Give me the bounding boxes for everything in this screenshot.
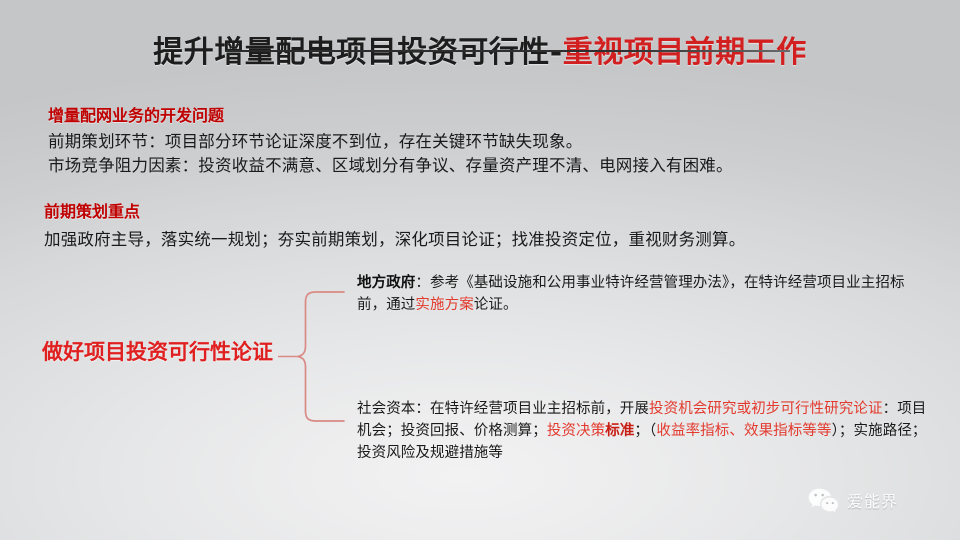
slide-canvas: 提升增量配电项目投资可行性-重视项目前期工作 增量配网业务的开发问题 前期策划环… [0, 0, 960, 540]
item-emphasis-indicators: 收益率指标、效果指标等等 [656, 423, 831, 439]
watermark: 爱能界 [808, 487, 898, 513]
title-underline-rule [225, 50, 790, 52]
item-text-social-capital-1: 社会资本：在特许经营项目业主招标前，开展 [357, 401, 649, 417]
page-title-highlight: 重视项目前期工作 [563, 35, 807, 70]
page-title: 提升增量配电项目投资可行性-重视项目前期工作 [0, 36, 960, 69]
left-curly-brace-icon [278, 284, 348, 430]
item-text-social-capital-3: ；（ [634, 423, 656, 439]
group-label-feasibility-study: 做好项目投资可行性论证 [42, 336, 273, 366]
title-block: 提升增量配电项目投资可行性-重视项目前期工作 [0, 36, 960, 69]
section-line-planning-stage: 前期策划环节：项目部分环节论证深度不到位，存在关键环节缺失现象。 [48, 128, 582, 152]
page-title-main: 提升增量配电项目投资可行性- [153, 35, 562, 70]
item-emphasis-investment-decision: 投资决策 [547, 423, 605, 439]
watermark-label: 爱能界 [847, 488, 898, 512]
item-emphasis-standard: 标准 [605, 423, 634, 439]
wechat-icon [808, 487, 838, 513]
item-emphasis-implementation-plan: 实施方案 [415, 297, 473, 313]
item-social-capital: 社会资本：在特许经营项目业主招标前，开展投资机会研究或初步可行性研究论证：项目机… [357, 398, 927, 464]
section-line-planning-focus-detail: 加强政府主导，落实统一规划；夯实前期策划，深化项目论证；找准投资定位，重视财务测… [44, 226, 745, 250]
item-emphasis-investment-opportunity-study: 投资机会研究或初步可行性研究论证 [649, 401, 883, 417]
section-line-market-resistance: 市场竞争阻力因素：投资收益不满意、区域划分有争议、存量资产理不清、电网接入有困难… [48, 152, 733, 176]
item-text-local-government-2: 论证。 [474, 297, 518, 313]
item-local-government: 地方政府：参考《基础设施和公用事业特许经营管理办法》，在特许经营项目业主招标前，… [357, 272, 917, 316]
section-heading-planning-focus: 前期策划重点 [44, 198, 140, 222]
section-heading-development-issues: 增量配网业务的开发问题 [48, 102, 224, 126]
item-term-local-government: 地方政府 [357, 275, 415, 291]
